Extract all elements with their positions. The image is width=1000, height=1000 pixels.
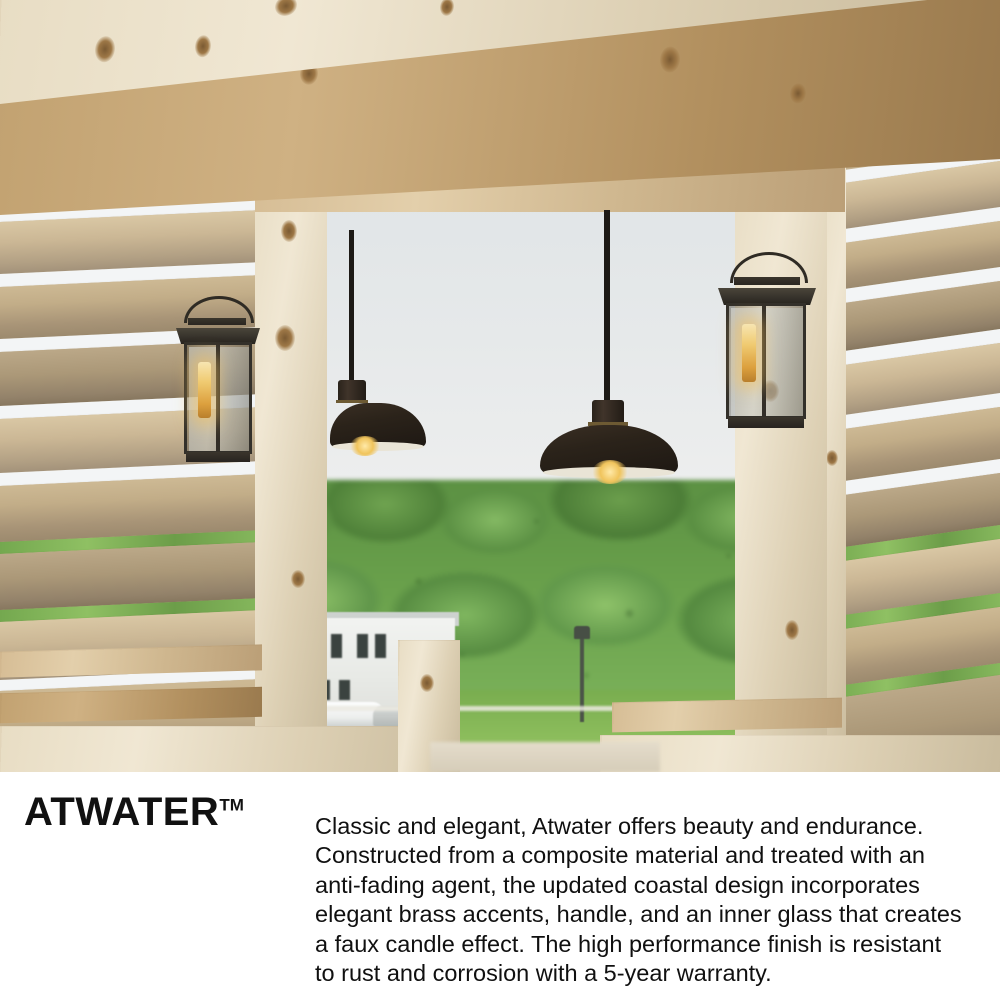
- pendant-socket-cap: [338, 380, 366, 402]
- gravel-foreground: [430, 742, 660, 772]
- house-window: [375, 634, 386, 658]
- pendant-socket-cap: [592, 400, 624, 424]
- lantern-sconce-left: [172, 296, 282, 476]
- brand-name: ATWATERTM: [24, 792, 244, 832]
- trademark-icon: TM: [219, 796, 244, 815]
- wood-grain-texture: [830, 150, 1000, 772]
- lantern-base: [186, 452, 250, 462]
- lantern-mullion: [216, 342, 220, 454]
- pendant-bulb-glow: [592, 460, 628, 484]
- house-window: [357, 634, 368, 658]
- barn-pendant-right: [540, 210, 680, 490]
- deck-rail-right: [612, 698, 842, 733]
- caption-panel: ATWATERTM Classic and elegant, Atwater o…: [0, 772, 1000, 1000]
- house-window: [331, 634, 342, 658]
- pendant-bulb-glow: [350, 436, 380, 456]
- lantern-top-plate: [188, 318, 246, 325]
- product-hero-photo: [0, 0, 1000, 772]
- deck-cap-right: [600, 735, 1000, 772]
- right-pine-post: [735, 150, 827, 772]
- product-description: Classic and elegant, Atwater offers beau…: [315, 812, 965, 989]
- lantern-top-plate: [734, 277, 800, 285]
- lantern-base: [728, 417, 804, 428]
- product-photo-page: ATWATERTM Classic and elegant, Atwater o…: [0, 0, 1000, 1000]
- pendant-downrod: [604, 210, 610, 402]
- lantern-mullion: [762, 303, 766, 419]
- faux-candle-light: [742, 324, 756, 382]
- louvered-slat-wall-right: [830, 150, 1000, 772]
- deck-rail-left-lower: [0, 687, 262, 723]
- pendant-downrod: [349, 230, 354, 382]
- barn-pendant-left: [330, 230, 440, 470]
- deck-cap-left: [0, 726, 460, 772]
- house-window: [339, 680, 350, 700]
- brand-name-text: ATWATER: [24, 790, 219, 834]
- lantern-sconce-right: [712, 252, 837, 437]
- lantern-body: [726, 303, 806, 419]
- faux-candle-light: [198, 362, 211, 418]
